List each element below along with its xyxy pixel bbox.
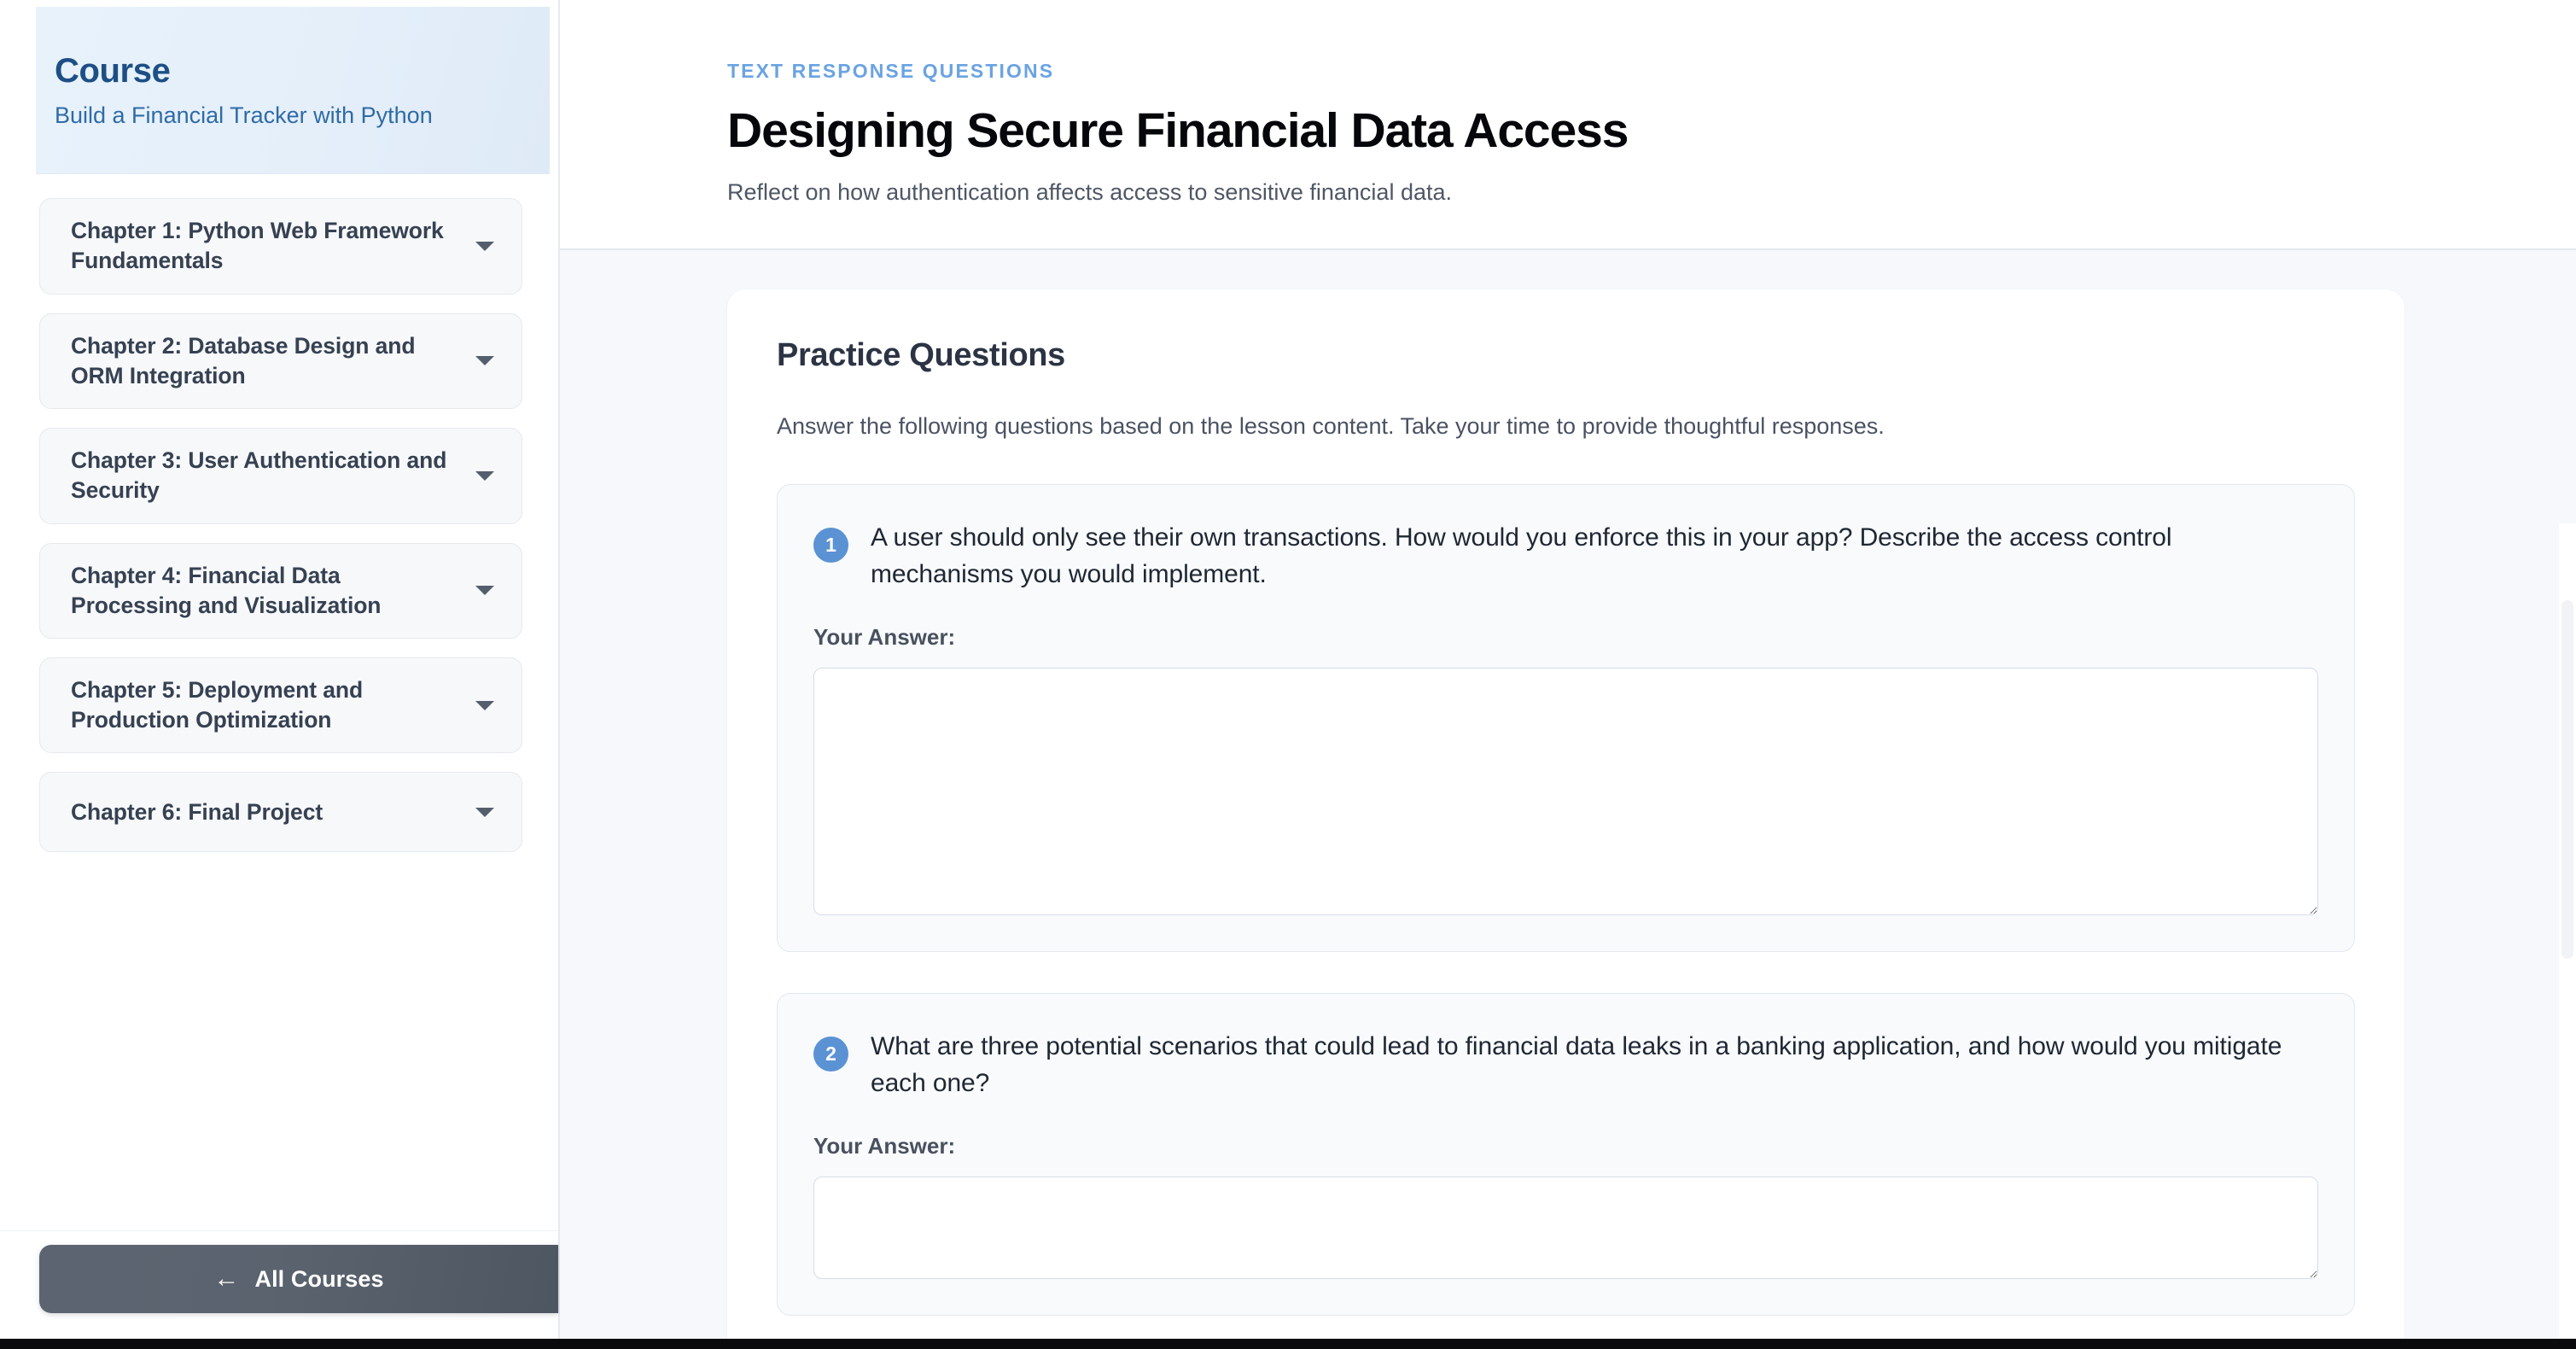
sidebar-course-name: Build a Financial Tracker with Python bbox=[55, 101, 550, 131]
question-text: A user should only see their own transac… bbox=[871, 519, 2318, 593]
sidebar-item-chapter-4[interactable]: Chapter 4: Financial Data Processing and… bbox=[39, 543, 522, 639]
page-subtitle: Reflect on how authentication affects ac… bbox=[727, 177, 2525, 207]
content-scroll-area[interactable]: Practice Questions Answer the following … bbox=[560, 250, 2576, 1339]
page-title: Designing Secure Financial Data Access bbox=[727, 105, 2525, 158]
chapter-title: Chapter 5: Deployment and Production Opt… bbox=[71, 675, 462, 735]
chapter-list: Chapter 1: Python Web Framework Fundamen… bbox=[0, 174, 558, 1230]
practice-questions-card: Practice Questions Answer the following … bbox=[727, 289, 2404, 1339]
chapter-title: Chapter 4: Financial Data Processing and… bbox=[71, 561, 462, 621]
answer-textarea[interactable] bbox=[813, 668, 2318, 915]
chapter-title: Chapter 2: Database Design and ORM Integ… bbox=[71, 331, 462, 391]
chevron-down-icon[interactable] bbox=[475, 242, 494, 251]
answer-label: Your Answer: bbox=[813, 1133, 2318, 1159]
sidebar-item-chapter-2[interactable]: Chapter 2: Database Design and ORM Integ… bbox=[39, 313, 522, 409]
question-text: What are three potential scenarios that … bbox=[871, 1028, 2318, 1102]
arrow-left-icon: ← bbox=[213, 1266, 239, 1292]
chevron-down-icon[interactable] bbox=[475, 471, 494, 481]
chevron-down-icon[interactable] bbox=[475, 808, 494, 817]
all-courses-button[interactable]: ← All Courses bbox=[39, 1245, 558, 1313]
window-bottom-edge bbox=[0, 1339, 2576, 1349]
app-window: Course Build a Financial Tracker with Py… bbox=[0, 0, 2576, 1349]
chapter-title: Chapter 3: User Authentication and Secur… bbox=[71, 446, 462, 505]
sidebar-item-chapter-5[interactable]: Chapter 5: Deployment and Production Opt… bbox=[39, 657, 522, 753]
question-block: 2 What are three potential scenarios tha… bbox=[777, 993, 2355, 1316]
sidebar-footer: ← All Courses bbox=[0, 1230, 558, 1339]
sidebar-course-label: Course bbox=[55, 51, 550, 91]
lesson-header: TEXT RESPONSE QUESTIONS Designing Secure… bbox=[560, 0, 2576, 250]
question-number-badge: 2 bbox=[813, 1037, 848, 1072]
practice-questions-description: Answer the following questions based on … bbox=[777, 411, 2355, 443]
chapter-title: Chapter 1: Python Web Framework Fundamen… bbox=[71, 216, 462, 276]
scrollbar-thumb[interactable] bbox=[2561, 600, 2573, 959]
sidebar-item-chapter-3[interactable]: Chapter 3: User Authentication and Secur… bbox=[39, 428, 522, 523]
question-row: 1 A user should only see their own trans… bbox=[813, 519, 2318, 593]
chevron-down-icon[interactable] bbox=[475, 586, 494, 595]
question-row: 2 What are three potential scenarios tha… bbox=[813, 1028, 2318, 1102]
chevron-down-icon[interactable] bbox=[475, 701, 494, 710]
all-courses-label: All Courses bbox=[254, 1266, 383, 1293]
vertical-scrollbar[interactable] bbox=[2559, 523, 2576, 1339]
course-sidebar: Course Build a Financial Tracker with Py… bbox=[0, 0, 560, 1339]
chevron-down-icon[interactable] bbox=[475, 356, 494, 365]
question-block: 1 A user should only see their own trans… bbox=[777, 484, 2355, 952]
sidebar-course-header: Course Build a Financial Tracker with Py… bbox=[36, 7, 550, 174]
question-number-badge: 1 bbox=[813, 528, 848, 563]
answer-textarea[interactable] bbox=[813, 1177, 2318, 1279]
answer-label: Your Answer: bbox=[813, 624, 2318, 651]
chapter-title: Chapter 6: Final Project bbox=[71, 797, 323, 827]
sidebar-item-chapter-6[interactable]: Chapter 6: Final Project bbox=[39, 772, 522, 852]
sidebar-item-chapter-1[interactable]: Chapter 1: Python Web Framework Fundamen… bbox=[39, 198, 522, 294]
lesson-eyebrow: TEXT RESPONSE QUESTIONS bbox=[727, 60, 2525, 83]
main-content: TEXT RESPONSE QUESTIONS Designing Secure… bbox=[560, 0, 2576, 1339]
practice-questions-heading: Practice Questions bbox=[777, 337, 2355, 374]
